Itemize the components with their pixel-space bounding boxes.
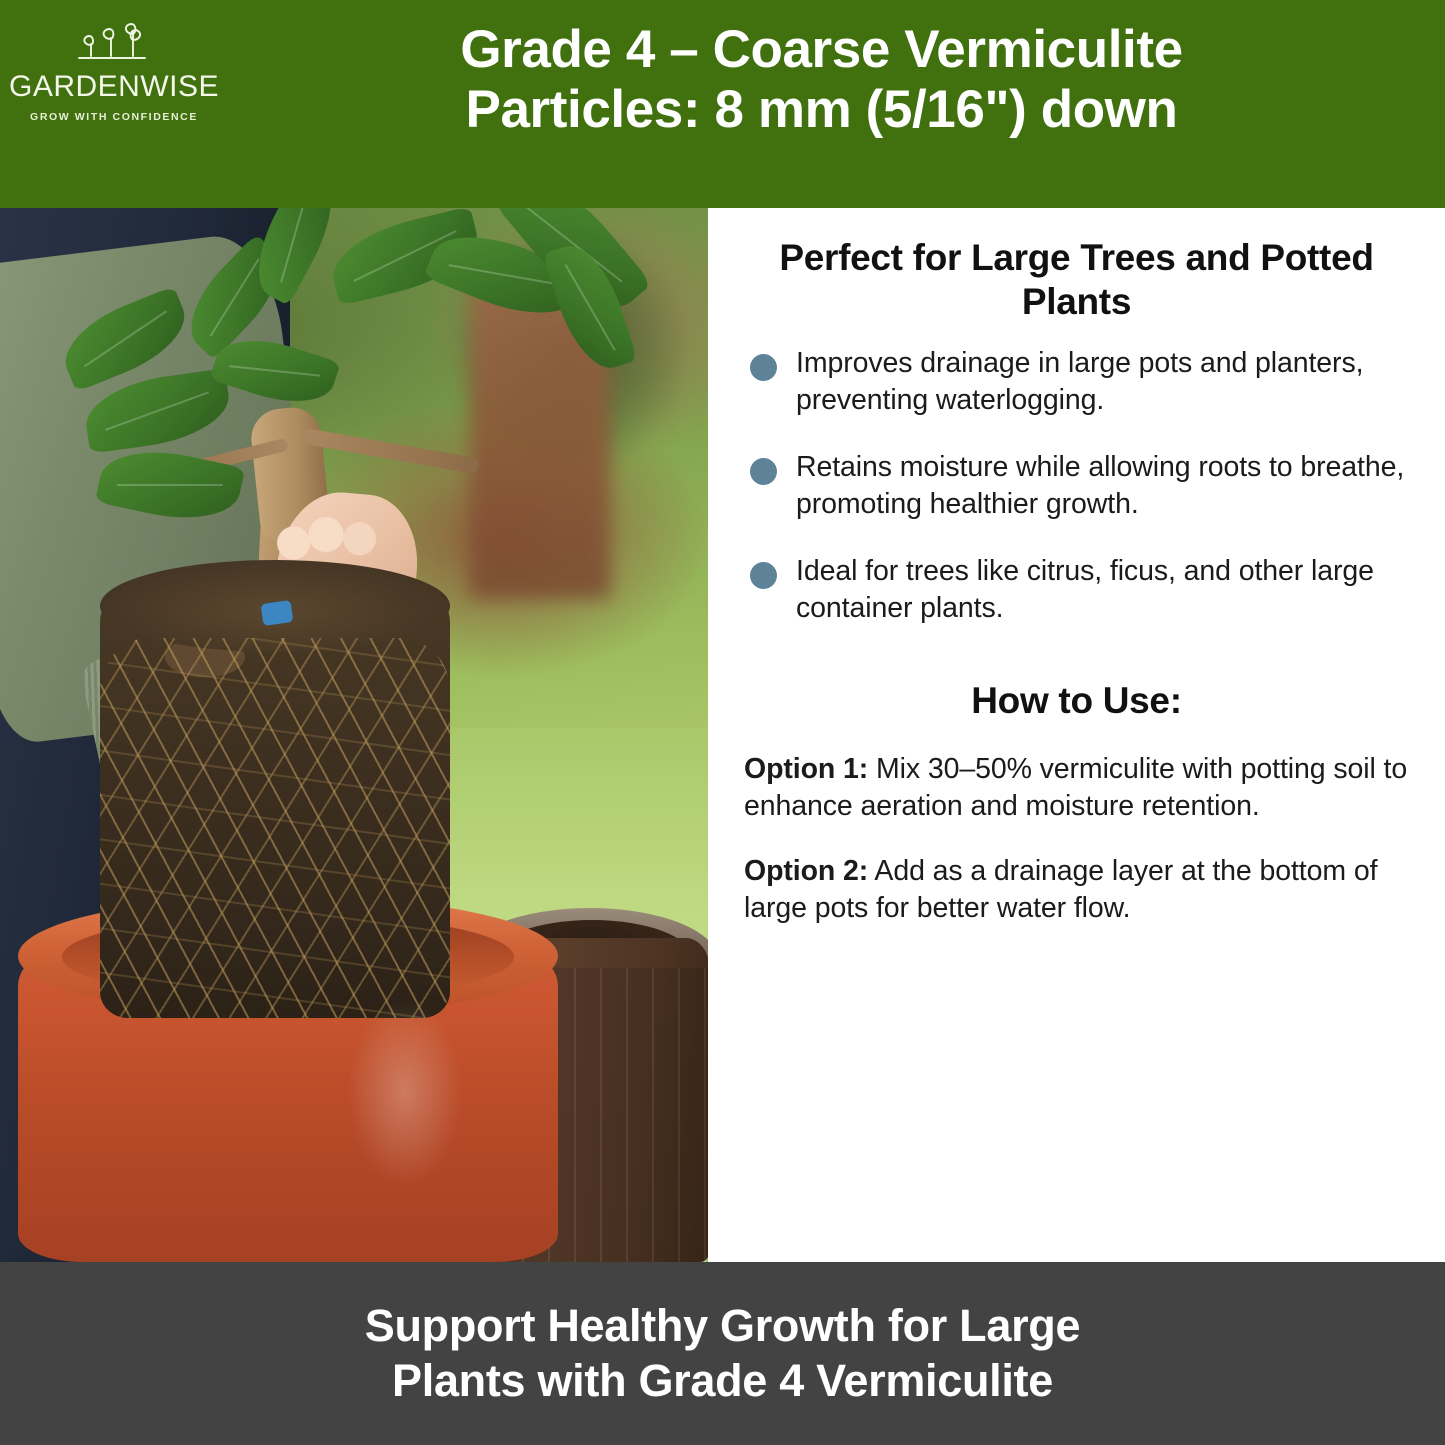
bullet-dot-icon [750, 562, 777, 589]
header-banner: GARDENWISE GROW WITH CONFIDENCE Grade 4 … [0, 0, 1445, 208]
panel-heading: Perfect for Large Trees and Potted Plant… [736, 236, 1417, 325]
usage-option-1: Option 1: Mix 30–50% vermiculite with po… [730, 751, 1423, 825]
photo-blue-tag [261, 600, 294, 626]
usage-option-2-label: Option 2: [744, 855, 868, 887]
photo-pot-highlight [330, 968, 480, 1218]
brand-tagline: GROW WITH CONFIDENCE [30, 111, 198, 123]
infographic-page: GARDENWISE GROW WITH CONFIDENCE Grade 4 … [0, 0, 1445, 1445]
usage-option-1-label: Option 1: [744, 753, 868, 785]
benefits-panel: Perfect for Large Trees and Potted Plant… [708, 208, 1445, 1262]
brand-name: GARDENWISE [9, 72, 219, 102]
three-sprouts-icon [71, 18, 157, 70]
header-title-block: Grade 4 – Coarse Vermiculite Particles: … [228, 0, 1445, 140]
photo-exposed-roots [100, 638, 450, 1018]
list-item: Ideal for trees like citrus, ficus, and … [796, 553, 1411, 627]
list-item: Retains moisture while allowing roots to… [796, 449, 1411, 523]
how-to-use-heading: How to Use: [730, 680, 1423, 722]
benefits-list: Improves drainage in large pots and plan… [730, 345, 1423, 627]
list-item: Improves drainage in large pots and plan… [796, 345, 1411, 419]
header-title-line-2: Particles: 8 mm (5/16") down [228, 80, 1415, 140]
list-item-text: Retains moisture while allowing roots to… [796, 451, 1404, 520]
footer-banner: Support Healthy Growth for Large Plants … [0, 1262, 1445, 1445]
product-photo [0, 208, 708, 1262]
footer-line-2: Plants with Grade 4 Vermiculite [365, 1354, 1080, 1409]
brand-logo: GARDENWISE GROW WITH CONFIDENCE [0, 0, 228, 123]
bullet-dot-icon [750, 458, 777, 485]
bullet-dot-icon [750, 354, 777, 381]
list-item-text: Ideal for trees like citrus, ficus, and … [796, 555, 1374, 624]
header-title-line-1: Grade 4 – Coarse Vermiculite [228, 20, 1415, 80]
list-item-text: Improves drainage in large pots and plan… [796, 347, 1363, 416]
usage-option-2: Option 2: Add as a drainage layer at the… [730, 853, 1423, 927]
main-content: Perfect for Large Trees and Potted Plant… [0, 208, 1445, 1262]
footer-text-block: Support Healthy Growth for Large Plants … [365, 1299, 1080, 1409]
footer-line-1: Support Healthy Growth for Large [365, 1299, 1080, 1354]
